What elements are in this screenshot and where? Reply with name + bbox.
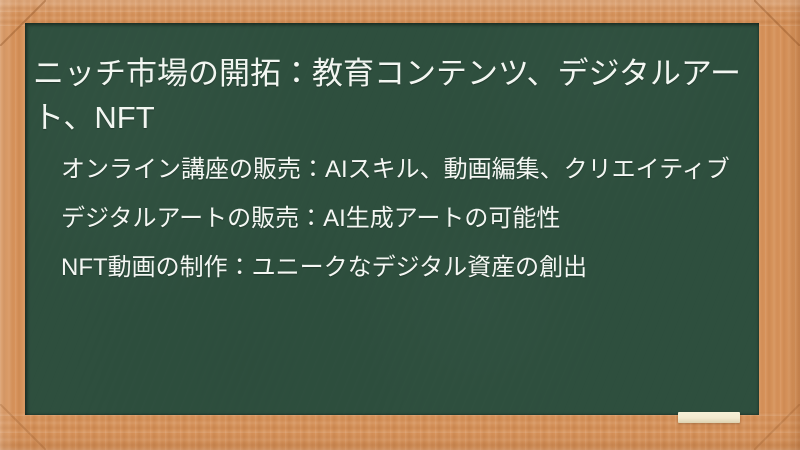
frame-miter-bottom-right [754,404,800,450]
bullet-item-2: デジタルアートの販売：AI生成アートの可能性 [33,199,745,239]
blackboard-slide: ニッチ市場の開拓：教育コンテンツ、デジタルアート、NFT オンライン講座の販売：… [0,0,800,450]
chalkboard-content: ニッチ市場の開拓：教育コンテンツ、デジタルアート、NFT オンライン講座の販売：… [25,23,759,415]
slide-title: ニッチ市場の開拓：教育コンテンツ、デジタルアート、NFT [33,52,749,140]
bullet-list: オンライン講座の販売：AIスキル、動画編集、クリエイティブ デジタルアートの販売… [33,150,745,297]
chalk-stick-icon [678,412,740,423]
chalkboard-surface: ニッチ市場の開拓：教育コンテンツ、デジタルアート、NFT オンライン講座の販売：… [25,23,759,415]
bullet-item-3: NFT動画の制作：ユニークなデジタル資産の創出 [33,248,745,288]
frame-miter-top-right [754,0,800,46]
bullet-item-1: オンライン講座の販売：AIスキル、動画編集、クリエイティブ [33,150,745,190]
